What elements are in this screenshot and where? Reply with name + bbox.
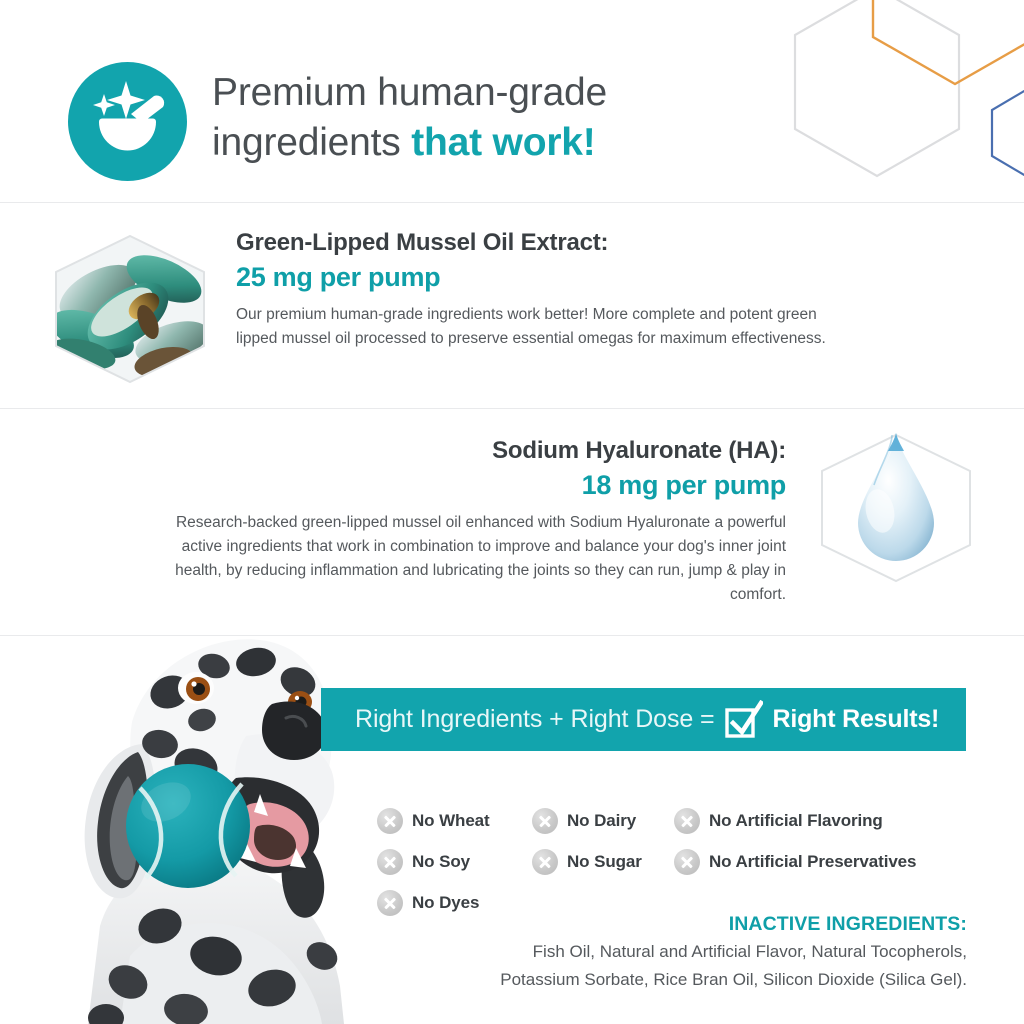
inactive-ingredients-line1: Fish Oil, Natural and Artificial Flavor,… <box>347 939 967 965</box>
free-from-item: No Soy <box>377 849 532 875</box>
header-title-accent: that work! <box>411 121 595 164</box>
free-from-item: No Dairy <box>532 808 674 834</box>
results-section: Right Ingredients + Right Dose = Right R… <box>0 635 1024 1024</box>
x-circle-icon <box>532 808 558 834</box>
free-from-label: No Artificial Flavoring <box>709 811 883 831</box>
free-from-label: No Dyes <box>412 893 479 913</box>
mussel-title: Green-Lipped Mussel Oil Extract: <box>236 228 836 258</box>
free-from-label: No Dairy <box>567 811 636 831</box>
ingredient-section-hyaluronate: Sodium Hyaluronate (HA): 18 mg per pump … <box>0 408 1024 635</box>
header-title-block: Premium human-grade ingredients that wor… <box>212 68 852 168</box>
dalmatian-dog-with-teal-ball-photo <box>10 626 380 1024</box>
header-title-line2-plain: ingredients <box>212 121 411 164</box>
free-from-label: No Wheat <box>412 811 490 831</box>
free-from-label: No Artificial Preservatives <box>709 852 916 872</box>
x-circle-icon <box>377 849 403 875</box>
free-from-item: No Artificial Preservatives <box>674 849 916 875</box>
hyaluronate-text-block: Sodium Hyaluronate (HA): 18 mg per pump … <box>136 436 786 607</box>
free-from-item: No Wheat <box>377 808 532 834</box>
hyaluronate-title: Sodium Hyaluronate (HA): <box>136 436 786 466</box>
green-lipped-mussels-photo <box>52 234 208 384</box>
ingredient-section-mussel: Green-Lipped Mussel Oil Extract: 25 mg p… <box>0 202 1024 408</box>
inactive-ingredients-title: INACTIVE INGREDIENTS: <box>347 911 967 937</box>
mussel-text-block: Green-Lipped Mussel Oil Extract: 25 mg p… <box>236 228 836 351</box>
inactive-ingredients-line2: Potassium Sorbate, Rice Bran Oil, Silico… <box>347 967 967 993</box>
banner-equation-text: Right Ingredients + Right Dose = <box>355 705 715 734</box>
hyaluronate-dose: 18 mg per pump <box>136 467 786 503</box>
header-title-line2: ingredients that work! <box>212 118 852 168</box>
free-from-label: No Sugar <box>567 852 642 872</box>
free-from-label: No Soy <box>412 852 470 872</box>
free-from-item: No Artificial Flavoring <box>674 808 883 834</box>
header-title-line1: Premium human-grade <box>212 68 852 118</box>
x-circle-icon <box>532 849 558 875</box>
hyaluronate-description: Research-backed green-lipped mussel oil … <box>136 511 786 607</box>
water-droplet-photo <box>818 433 974 583</box>
free-from-row: No Soy No Sugar No Artificial Preservati… <box>377 841 977 882</box>
right-results-banner: Right Ingredients + Right Dose = Right R… <box>321 688 966 751</box>
free-from-list: No Wheat No Dairy No Artificial Flavorin… <box>377 800 977 923</box>
x-circle-icon <box>377 808 403 834</box>
x-circle-icon <box>674 849 700 875</box>
infographic-page: Premium human-grade ingredients that wor… <box>0 0 1024 1024</box>
free-from-row: No Wheat No Dairy No Artificial Flavorin… <box>377 800 977 841</box>
mussel-dose: 25 mg per pump <box>236 259 836 295</box>
inactive-ingredients-block: INACTIVE INGREDIENTS: Fish Oil, Natural … <box>347 911 967 993</box>
mussel-description: Our premium human-grade ingredients work… <box>236 303 836 351</box>
x-circle-icon <box>674 808 700 834</box>
free-from-item: No Sugar <box>532 849 674 875</box>
checkbox-check-icon <box>725 700 763 740</box>
mortar-and-pestle-icon <box>68 62 187 181</box>
page-header: Premium human-grade ingredients that wor… <box>0 0 1024 202</box>
banner-result-text: Right Results! <box>773 705 940 734</box>
